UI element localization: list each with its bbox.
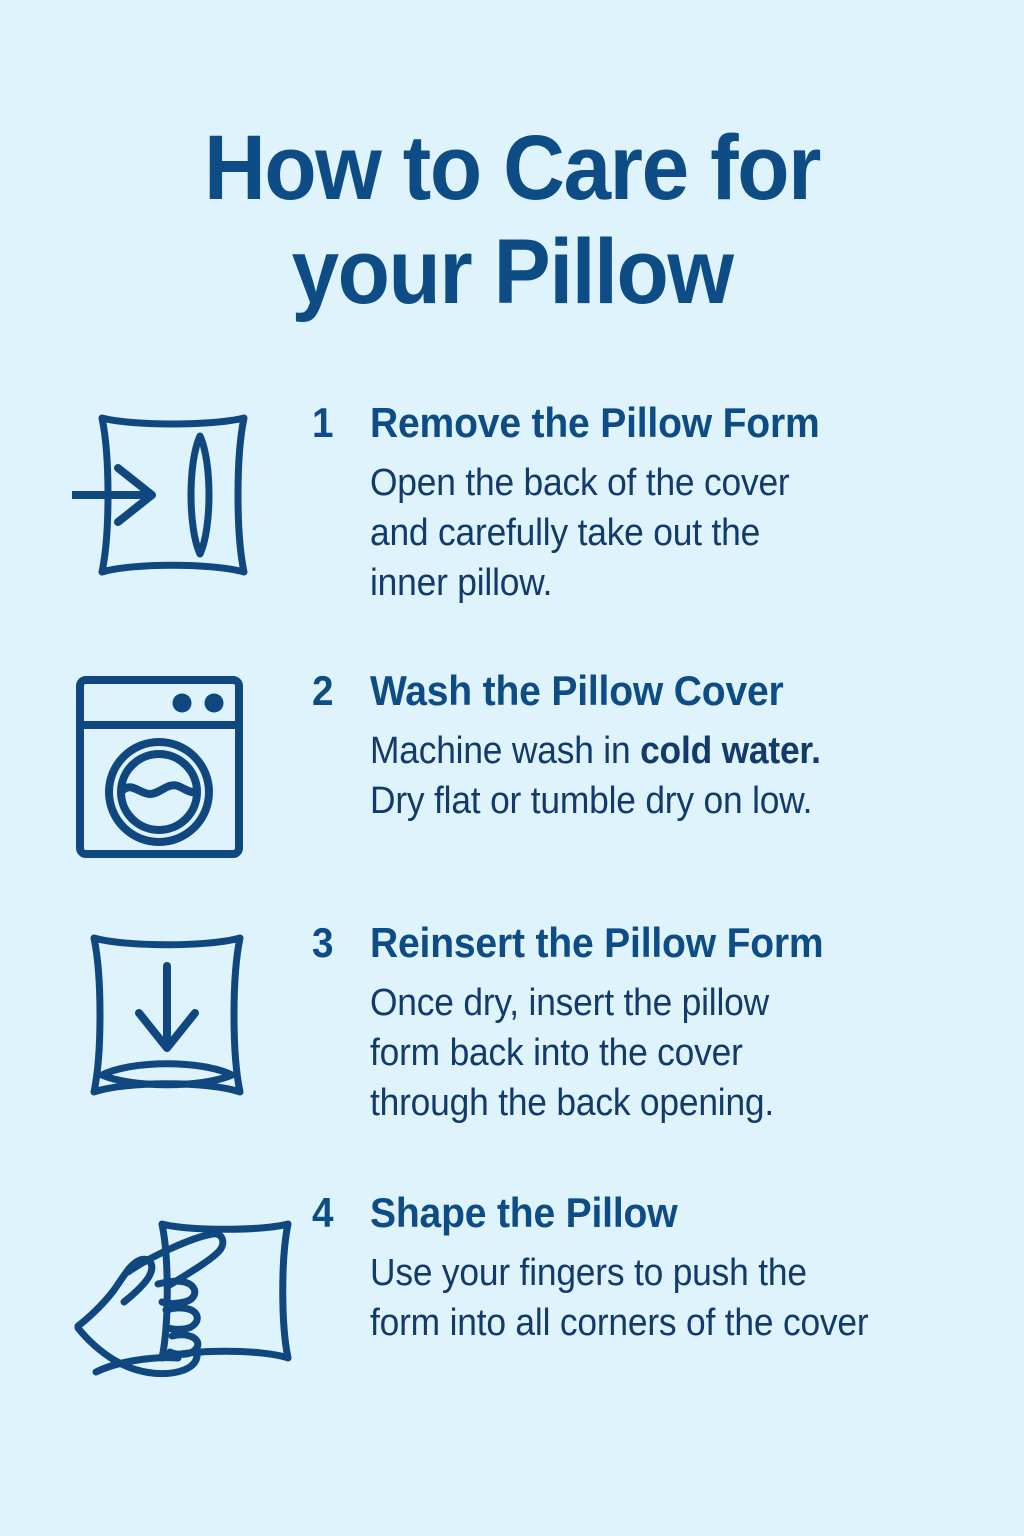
steps-list: 1 Remove the Pillow Form Open the back o… xyxy=(0,392,1024,1402)
step-3-text-cell: 3 Reinsert the Pillow Form Once dry, ins… xyxy=(312,912,1024,1128)
step-number: 4 xyxy=(312,1188,365,1238)
step-item: 2 Wash the Pillow Cover Machine wash in … xyxy=(0,660,1024,912)
step-description-line: inner pillow. xyxy=(370,558,978,608)
step-description-line: form back into the cover xyxy=(370,1028,978,1078)
step-number: 1 xyxy=(312,398,365,448)
step-description-emphasis-tail: . xyxy=(811,730,821,772)
step-description: Machine wash in cold water. Dry flat or … xyxy=(370,726,978,826)
step-heading: Remove the Pillow Form xyxy=(370,398,978,448)
hand-pressing-pillow-icon xyxy=(72,1210,307,1385)
pillow-with-arrow-in-icon xyxy=(72,404,272,584)
step-number: 3 xyxy=(312,918,365,968)
step-description-line: through the back opening. xyxy=(370,1078,978,1128)
page-title: How to Care for your Pillow xyxy=(0,116,1024,324)
step-description: Use your fingers to push the form into a… xyxy=(370,1248,978,1348)
step-heading: Reinsert the Pillow Form xyxy=(370,918,978,968)
washing-machine-icon xyxy=(72,672,247,862)
pillow-with-down-arrow-icon xyxy=(72,924,262,1104)
step-description-line: and carefully take out the xyxy=(370,508,978,558)
step-2-text-cell: 2 Wash the Pillow Cover Machine wash in … xyxy=(312,660,1024,826)
pillow-care-infographic: How to Care for your Pillow 1 Remove the… xyxy=(0,0,1024,1536)
step-description-line: form into all corners of the cover xyxy=(370,1298,978,1348)
step-number: 2 xyxy=(312,666,365,716)
step-description-text: Machine wash in xyxy=(370,730,640,772)
step-description-line: Dry flat or tumble dry on low. xyxy=(370,776,978,826)
step-item: 4 Shape the Pillow Use your fingers to p… xyxy=(0,1182,1024,1402)
step-description-line: Machine wash in cold water. xyxy=(370,726,978,776)
step-4-text-cell: 4 Shape the Pillow Use your fingers to p… xyxy=(312,1182,1024,1348)
page-title-line-1: How to Care for xyxy=(36,116,988,220)
step-heading: Wash the Pillow Cover xyxy=(370,666,978,716)
page-title-line-2: your Pillow xyxy=(36,220,988,324)
step-description: Open the back of the cover and carefully… xyxy=(370,458,978,608)
step-4-icon-cell xyxy=(72,1182,312,1385)
step-item: 1 Remove the Pillow Form Open the back o… xyxy=(0,392,1024,660)
step-description-emphasis: cold water xyxy=(640,730,811,772)
step-3-icon-cell xyxy=(72,912,312,1104)
step-item: 3 Reinsert the Pillow Form Once dry, ins… xyxy=(0,912,1024,1182)
step-1-text-cell: 1 Remove the Pillow Form Open the back o… xyxy=(312,392,1024,608)
step-1-icon-cell xyxy=(72,392,312,584)
step-description-line: Once dry, insert the pillow xyxy=(370,978,978,1028)
step-description: Once dry, insert the pillow form back in… xyxy=(370,978,978,1128)
step-2-icon-cell xyxy=(72,660,312,862)
step-description-line: Open the back of the cover xyxy=(370,458,978,508)
step-heading: Shape the Pillow xyxy=(370,1188,978,1238)
step-description-line: Use your fingers to push the xyxy=(370,1248,978,1298)
